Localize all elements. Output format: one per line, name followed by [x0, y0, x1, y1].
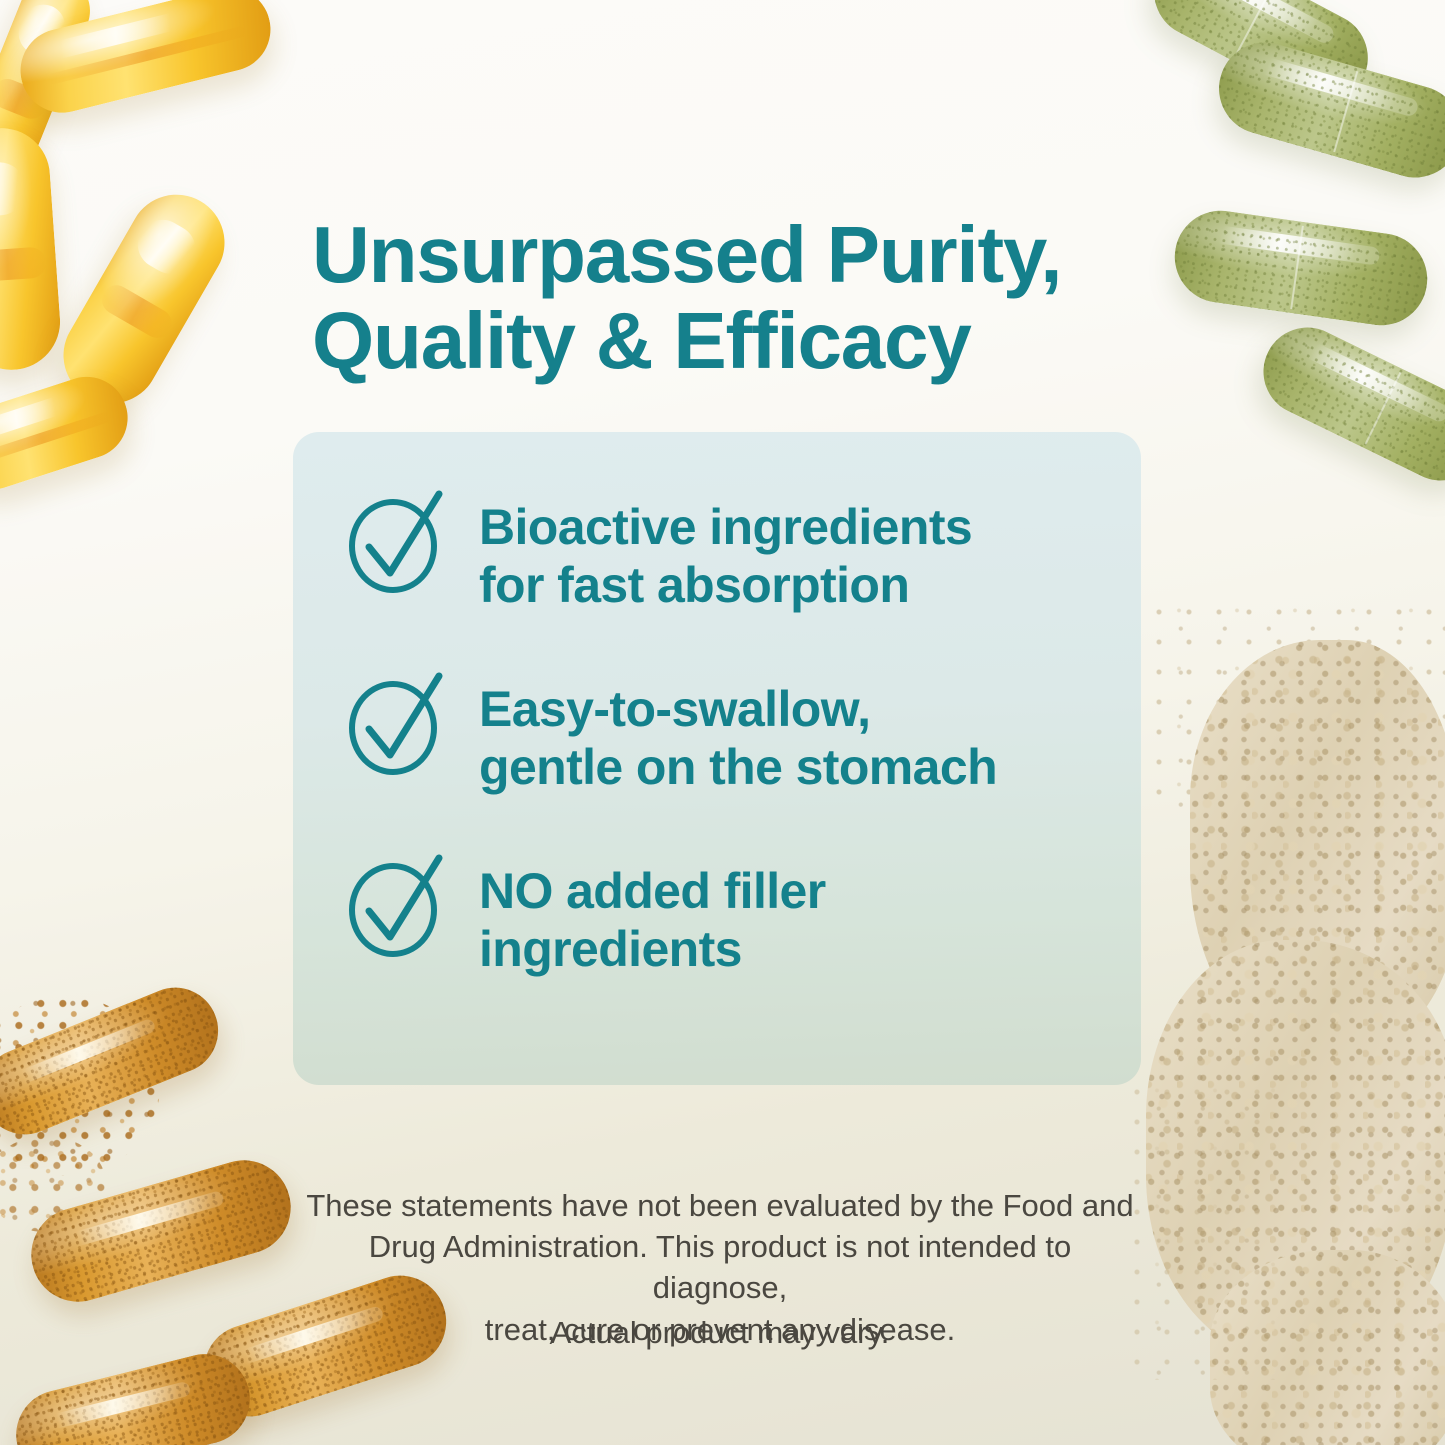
benefit-line-1: NO added filler: [479, 862, 826, 920]
benefit-text: NO added filler ingredients: [479, 858, 826, 978]
product-benefits-graphic: Unsurpassed Purity, Quality & Efficacy B…: [0, 0, 1445, 1445]
disclaimer-line-1: These statements have not been evaluated…: [300, 1185, 1140, 1226]
benefit-item-no-fillers: NO added filler ingredients: [345, 858, 1107, 978]
benefit-list: Bioactive ingredients for fast absorptio…: [345, 494, 1107, 978]
benefit-line-1: Easy-to-swallow,: [479, 680, 997, 738]
benefits-panel: Bioactive ingredients for fast absorptio…: [293, 432, 1141, 1085]
benefit-line-2: ingredients: [479, 920, 826, 978]
benefit-text: Bioactive ingredients for fast absorptio…: [479, 494, 972, 614]
headline-line-2: Quality & Efficacy: [312, 298, 1172, 384]
benefit-line-1: Bioactive ingredients: [479, 498, 972, 556]
product-variation-note: Actual product may vary.: [300, 1315, 1140, 1351]
benefit-text: Easy-to-swallow, gentle on the stomach: [479, 676, 997, 796]
benefit-item-bioactive: Bioactive ingredients for fast absorptio…: [345, 494, 1107, 614]
check-circle-icon: [345, 490, 449, 594]
benefit-line-2: gentle on the stomach: [479, 738, 997, 796]
benefit-line-2: for fast absorption: [479, 556, 972, 614]
check-circle-icon: [345, 672, 449, 776]
headline-line-1: Unsurpassed Purity,: [312, 212, 1172, 298]
page-title: Unsurpassed Purity, Quality & Efficacy: [312, 212, 1172, 385]
check-circle-icon: [345, 854, 449, 958]
benefit-item-easy-to-swallow: Easy-to-swallow, gentle on the stomach: [345, 676, 1107, 796]
disclaimer-line-2: Drug Administration. This product is not…: [300, 1226, 1140, 1308]
